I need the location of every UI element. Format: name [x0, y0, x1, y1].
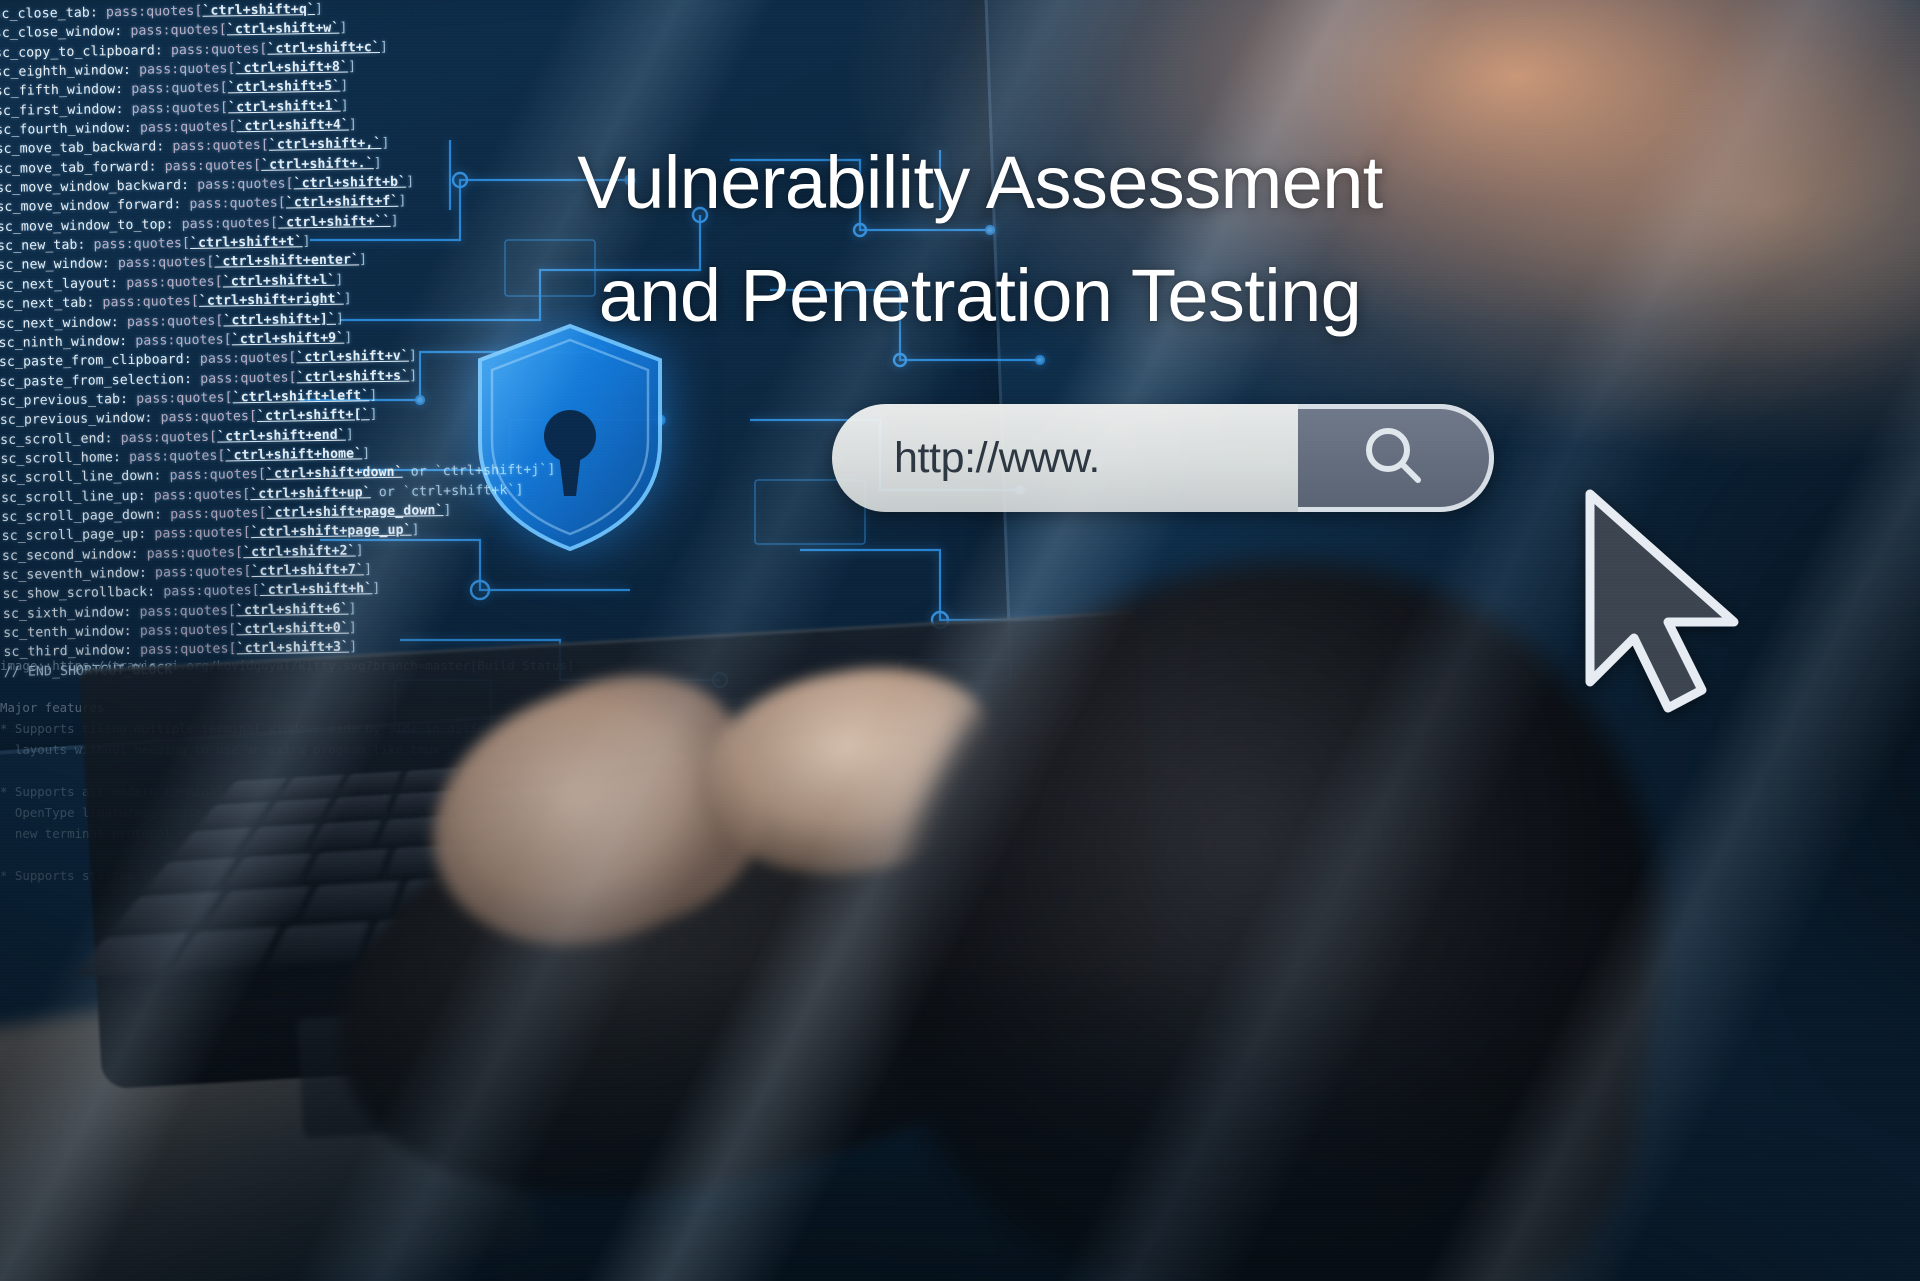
- url-search-bar[interactable]: http://www.: [832, 404, 1494, 512]
- search-input[interactable]: http://www.: [894, 434, 1100, 483]
- page-title-line-1: Vulnerability Assessment: [500, 126, 1460, 239]
- search-icon: [1356, 420, 1432, 496]
- mouse-pointer-icon: [1572, 486, 1772, 716]
- search-button[interactable]: [1298, 404, 1494, 512]
- page-title: Vulnerability Assessment and Penetration…: [500, 126, 1460, 352]
- page-title-line-2: and Penetration Testing: [500, 239, 1460, 352]
- hero-banner: sc_close_tab: pass:quotes[`ctrl+shift+q`…: [0, 0, 1920, 1281]
